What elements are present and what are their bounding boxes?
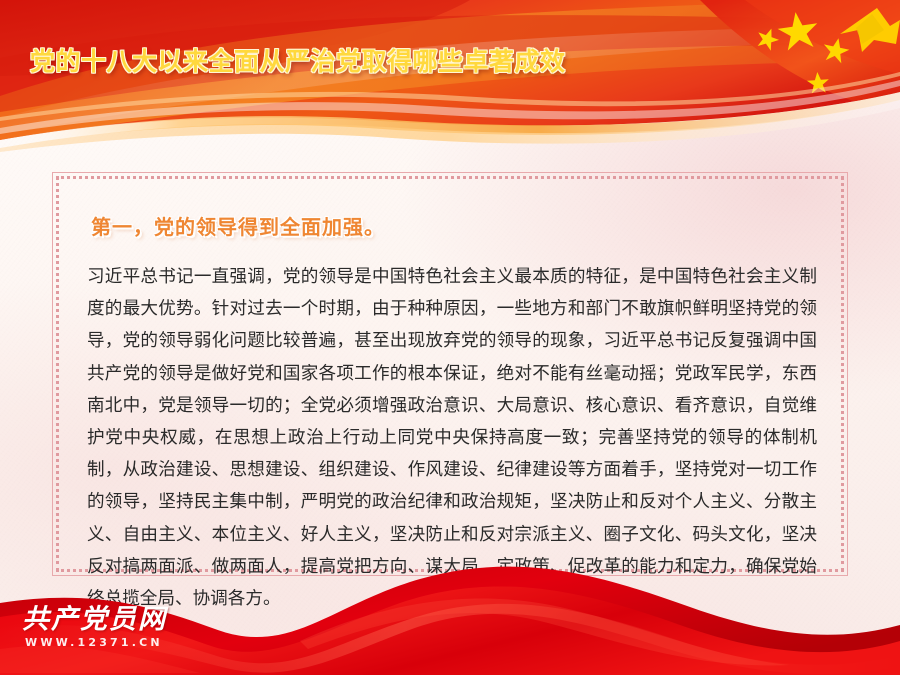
content-card-border-inner: 第一，党的领导得到全面加强。 习近平总书记一直强调，党的领导是中国特色社会主义最… — [56, 176, 844, 572]
footer-wave — [0, 545, 900, 675]
content-card: 第一，党的领导得到全面加强。 习近平总书记一直强调，党的领导是中国特色社会主义最… — [52, 172, 848, 576]
footer-wave-artwork — [0, 545, 900, 675]
header-banner: 党的十八大以来全面从严治党取得哪些卓著成效 — [0, 0, 900, 152]
section-heading: 第一，党的领导得到全面加强。 — [91, 211, 385, 240]
poster-canvas: 党的十八大以来全面从严治党取得哪些卓著成效 第一，党的领导得到全面加强。 习近平… — [0, 0, 900, 675]
banner-artwork — [0, 0, 900, 152]
banner-title: 党的十八大以来全面从严治党取得哪些卓著成效 — [30, 49, 566, 74]
